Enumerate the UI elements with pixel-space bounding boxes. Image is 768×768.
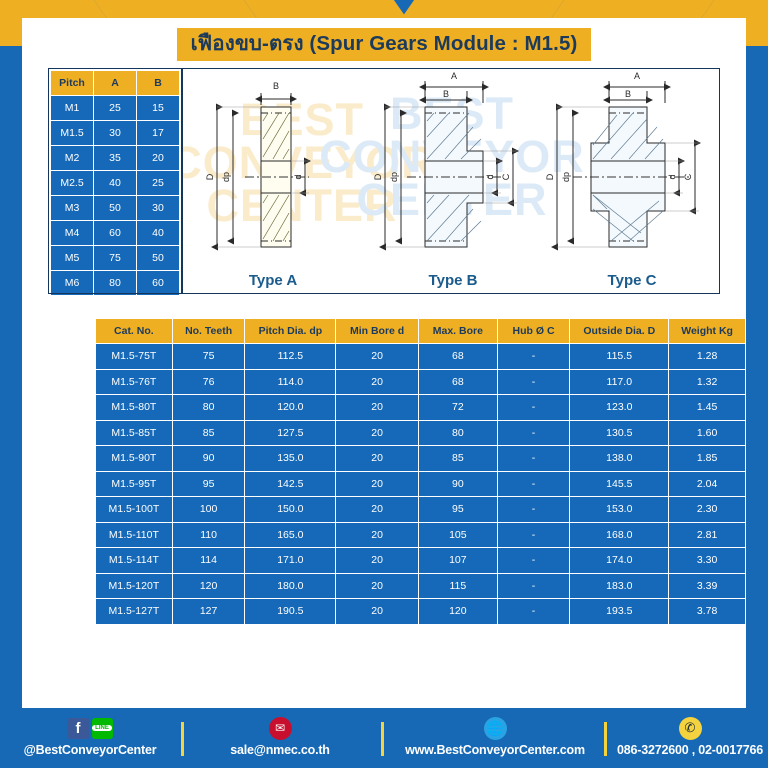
spec-cell: 123.0 xyxy=(570,395,668,420)
svg-text:A: A xyxy=(634,71,640,81)
type-b-figure: A B D dp d C xyxy=(363,69,543,269)
footer-social[interactable]: f LINE @BestConveyorCenter xyxy=(0,716,180,762)
table-row: M1.5-120T120180.020115-183.03.39 xyxy=(96,574,745,599)
spec-cell: 174.0 xyxy=(570,548,668,573)
spec-cell: 95 xyxy=(419,497,497,522)
spec-cell: - xyxy=(498,472,570,497)
footer-website[interactable]: 🌐 www.BestConveyorCenter.com xyxy=(390,716,600,762)
svg-text:D: D xyxy=(545,173,555,180)
content-page: เฟืองขบ-ตรง (Spur Gears Module : M1.5) P… xyxy=(22,18,746,708)
pitch-cell: 20 xyxy=(137,146,179,170)
pitch-cell: 30 xyxy=(94,121,136,145)
page-title: เฟืองขบ-ตรง (Spur Gears Module : M1.5) xyxy=(177,28,592,61)
spec-cell: - xyxy=(498,497,570,522)
spec-cell: 68 xyxy=(419,370,497,395)
spec-cell: M1.5-114T xyxy=(96,548,172,573)
spec-cell: 2.04 xyxy=(669,472,745,497)
pitch-table-header-row: Pitch A B xyxy=(51,71,179,95)
pitch-table-row: M68060 xyxy=(51,271,179,295)
spec-cell: - xyxy=(498,446,570,471)
svg-text:B: B xyxy=(625,89,631,99)
spec-table: Cat. No. No. Teeth Pitch Dia. dp Min Bor… xyxy=(95,318,746,625)
pitch-header-a: A xyxy=(94,71,136,95)
spec-cell: 2.81 xyxy=(669,523,745,548)
spec-header-no-teeth: No. Teeth xyxy=(173,319,245,343)
spec-cell: 90 xyxy=(173,446,245,471)
pitch-cell: 50 xyxy=(137,246,179,270)
spec-cell: 114.0 xyxy=(245,370,335,395)
spec-cell: 85 xyxy=(173,421,245,446)
phone-icon[interactable]: ✆ xyxy=(679,717,702,740)
pitch-cell: 40 xyxy=(137,221,179,245)
pitch-table-row: M46040 xyxy=(51,221,179,245)
pitch-header-b: B xyxy=(137,71,179,95)
spec-cell: 120 xyxy=(419,599,497,624)
spec-cell: 153.0 xyxy=(570,497,668,522)
table-row: M1.5-114T114171.020107-174.03.30 xyxy=(96,548,745,573)
spec-cell: 117.0 xyxy=(570,370,668,395)
footer-phone-icons: ✆ xyxy=(612,716,768,740)
spec-cell: 3.30 xyxy=(669,548,745,573)
spec-cell: 20 xyxy=(336,370,418,395)
type-c-label: Type C xyxy=(543,272,720,289)
spec-cell: 20 xyxy=(336,548,418,573)
spec-cell: 165.0 xyxy=(245,523,335,548)
spec-cell: 20 xyxy=(336,446,418,471)
spec-cell: 20 xyxy=(336,523,418,548)
spec-cell: M1.5-75T xyxy=(96,344,172,369)
spec-cell: 190.5 xyxy=(245,599,335,624)
line-icon[interactable]: LINE xyxy=(92,718,113,739)
pitch-cell: M3 xyxy=(51,196,93,220)
pitch-cell: M2 xyxy=(51,146,93,170)
svg-text:C: C xyxy=(683,173,693,180)
pitch-table-row: M35030 xyxy=(51,196,179,220)
footer-email-label: sale@nmec.co.th xyxy=(190,743,370,757)
spec-cell: 72 xyxy=(419,395,497,420)
table-row: M1.5-76T76114.02068-117.01.32 xyxy=(96,370,745,395)
spec-cell: 80 xyxy=(173,395,245,420)
pitch-table-row: M57550 xyxy=(51,246,179,270)
pitch-cell: M5 xyxy=(51,246,93,270)
drawing-type-a: B D dp d Type A xyxy=(183,69,363,294)
spec-cell: 127 xyxy=(173,599,245,624)
pitch-cell: M1 xyxy=(51,96,93,120)
pitch-table: Pitch A B M12515M1.53017M23520M2.54025M3… xyxy=(50,70,180,296)
svg-text:A: A xyxy=(451,71,457,81)
spec-cell: 2.30 xyxy=(669,497,745,522)
spec-cell: M1.5-85T xyxy=(96,421,172,446)
spec-header-max-bore: Max. Bore xyxy=(419,319,497,343)
spec-cell: 20 xyxy=(336,574,418,599)
spec-cell: 120.0 xyxy=(245,395,335,420)
spec-cell: - xyxy=(498,523,570,548)
pitch-cell: 17 xyxy=(137,121,179,145)
svg-text:dp: dp xyxy=(389,172,399,182)
table-row: M1.5-100T100150.02095-153.02.30 xyxy=(96,497,745,522)
spec-cell: - xyxy=(498,574,570,599)
spec-cell: M1.5-95T xyxy=(96,472,172,497)
spec-cell: 150.0 xyxy=(245,497,335,522)
spec-cell: 3.39 xyxy=(669,574,745,599)
pitch-cell: M4 xyxy=(51,221,93,245)
spec-cell: - xyxy=(498,344,570,369)
footer-divider xyxy=(181,722,184,756)
spec-cell: 105 xyxy=(419,523,497,548)
footer-divider xyxy=(604,722,607,756)
spec-cell: M1.5-120T xyxy=(96,574,172,599)
spec-cell: 130.5 xyxy=(570,421,668,446)
spec-cell: - xyxy=(498,421,570,446)
spec-cell: 68 xyxy=(419,344,497,369)
table-row: M1.5-127T127190.520120-193.53.78 xyxy=(96,599,745,624)
pitch-cell: 25 xyxy=(94,96,136,120)
spec-cell: M1.5-127T xyxy=(96,599,172,624)
spec-cell: 20 xyxy=(336,344,418,369)
spec-cell: 1.28 xyxy=(669,344,745,369)
spec-cell: 20 xyxy=(336,472,418,497)
table-row: M1.5-90T90135.02085-138.01.85 xyxy=(96,446,745,471)
spec-cell: 20 xyxy=(336,395,418,420)
spec-cell: 95 xyxy=(173,472,245,497)
spec-cell: 112.5 xyxy=(245,344,335,369)
svg-text:B: B xyxy=(273,81,279,91)
pitch-cell: M2.5 xyxy=(51,171,93,195)
spec-cell: 76 xyxy=(173,370,245,395)
pitch-cell: 50 xyxy=(94,196,136,220)
pitch-cell: 35 xyxy=(94,146,136,170)
type-b-label: Type B xyxy=(363,272,543,289)
spec-cell: 114 xyxy=(173,548,245,573)
type-c-figure: A B D dp d C xyxy=(543,69,720,269)
spec-header-min-bore: Min Bore d xyxy=(336,319,418,343)
svg-text:dp: dp xyxy=(221,172,231,182)
type-a-figure: B D dp d xyxy=(183,69,363,269)
svg-text:B: B xyxy=(443,89,449,99)
spec-cell: 3.78 xyxy=(669,599,745,624)
footer-phone[interactable]: ✆ 086-3272600 , 02-0017766 xyxy=(612,716,768,762)
pitch-table-row: M2.54025 xyxy=(51,171,179,195)
table-row: M1.5-95T95142.52090-145.52.04 xyxy=(96,472,745,497)
footer-phone-label: 086-3272600 , 02-0017766 xyxy=(612,743,768,757)
svg-text:D: D xyxy=(205,173,215,180)
footer-web-label: www.BestConveyorCenter.com xyxy=(390,743,600,757)
table-row: M1.5-85T85127.52080-130.51.60 xyxy=(96,421,745,446)
spec-table-header-row: Cat. No. No. Teeth Pitch Dia. dp Min Bor… xyxy=(96,319,745,343)
pitch-cell: M6 xyxy=(51,271,93,295)
svg-text:d: d xyxy=(485,174,495,179)
pitch-cell: 25 xyxy=(137,171,179,195)
spec-cell: 1.32 xyxy=(669,370,745,395)
pitch-table-row: M12515 xyxy=(51,96,179,120)
spec-cell: 145.5 xyxy=(570,472,668,497)
spec-header-hub-c: Hub Ø C xyxy=(498,319,570,343)
spec-cell: 180.0 xyxy=(245,574,335,599)
spec-cell: 1.45 xyxy=(669,395,745,420)
drawing-type-c: A B D dp d C Type C xyxy=(543,69,720,294)
spec-cell: - xyxy=(498,370,570,395)
page-title-wrap: เฟืองขบ-ตรง (Spur Gears Module : M1.5) xyxy=(22,28,746,61)
spec-cell: 100 xyxy=(173,497,245,522)
spec-cell: 142.5 xyxy=(245,472,335,497)
spec-cell: 75 xyxy=(173,344,245,369)
spec-cell: - xyxy=(498,548,570,573)
spec-cell: 85 xyxy=(419,446,497,471)
spec-header-cat-no: Cat. No. xyxy=(96,319,172,343)
spec-header-outside-dia: Outside Dia. D xyxy=(570,319,668,343)
pitch-cell: 40 xyxy=(94,171,136,195)
pitch-cell: 60 xyxy=(94,221,136,245)
svg-text:dp: dp xyxy=(561,172,571,182)
spec-cell: 1.85 xyxy=(669,446,745,471)
facebook-icon[interactable]: f xyxy=(68,718,89,739)
drawings-panel: BEST CONVEYOR CENTER BEST CONVEYOR CENTE… xyxy=(182,68,720,294)
spec-cell: 127.5 xyxy=(245,421,335,446)
table-row: M1.5-80T80120.02072-123.01.45 xyxy=(96,395,745,420)
spec-cell: M1.5-76T xyxy=(96,370,172,395)
spec-cell: 80 xyxy=(419,421,497,446)
spec-cell: 183.0 xyxy=(570,574,668,599)
svg-text:d: d xyxy=(667,174,677,179)
svg-text:C: C xyxy=(501,173,511,180)
spec-table-wrap: Cat. No. No. Teeth Pitch Dia. dp Min Bor… xyxy=(95,318,746,625)
spec-cell: M1.5-80T xyxy=(96,395,172,420)
spec-cell: 138.0 xyxy=(570,446,668,471)
table-row: M1.5-110T110165.020105-168.02.81 xyxy=(96,523,745,548)
pitch-cell: 80 xyxy=(94,271,136,295)
spec-cell: 115 xyxy=(419,574,497,599)
footer-divider xyxy=(381,722,384,756)
table-row: M1.5-75T75112.52068-115.51.28 xyxy=(96,344,745,369)
globe-icon[interactable]: 🌐 xyxy=(484,717,507,740)
drawing-type-b: A B D dp d C Type B xyxy=(363,69,543,294)
spec-cell: 120 xyxy=(173,574,245,599)
spec-cell: 193.5 xyxy=(570,599,668,624)
footer-social-label: @BestConveyorCenter xyxy=(0,743,180,757)
spec-header-pitch-dia: Pitch Dia. dp xyxy=(245,319,335,343)
spec-cell: - xyxy=(498,599,570,624)
pitch-table-row: M23520 xyxy=(51,146,179,170)
spec-header-weight: Weight Kg xyxy=(669,319,745,343)
spec-cell: 20 xyxy=(336,497,418,522)
pitch-cell: 30 xyxy=(137,196,179,220)
footer-social-icons: f LINE xyxy=(0,716,180,740)
pitch-cell: M1.5 xyxy=(51,121,93,145)
spec-cell: 20 xyxy=(336,599,418,624)
spec-cell: 107 xyxy=(419,548,497,573)
spec-cell: - xyxy=(498,395,570,420)
spec-cell: M1.5-100T xyxy=(96,497,172,522)
spec-cell: 1.60 xyxy=(669,421,745,446)
spec-cell: 171.0 xyxy=(245,548,335,573)
pitch-table-row: M1.53017 xyxy=(51,121,179,145)
pitch-cell: 60 xyxy=(137,271,179,295)
footer-contact-bar: f LINE @BestConveyorCenter ✉ sale@nmec.c… xyxy=(0,708,768,768)
pitch-cell: 15 xyxy=(137,96,179,120)
pitch-header-pitch: Pitch xyxy=(51,71,93,95)
footer-email-icons: ✉ xyxy=(190,716,370,740)
spec-cell: 110 xyxy=(173,523,245,548)
spec-cell: 135.0 xyxy=(245,446,335,471)
footer-web-icons: 🌐 xyxy=(390,716,600,740)
spec-cell: M1.5-90T xyxy=(96,446,172,471)
email-icon[interactable]: ✉ xyxy=(269,717,292,740)
spec-cell: M1.5-110T xyxy=(96,523,172,548)
spec-cell: 115.5 xyxy=(570,344,668,369)
type-a-label: Type A xyxy=(183,272,363,289)
footer-email[interactable]: ✉ sale@nmec.co.th xyxy=(190,716,370,762)
pitch-cell: 75 xyxy=(94,246,136,270)
svg-text:d: d xyxy=(293,174,303,179)
spec-cell: 20 xyxy=(336,421,418,446)
svg-text:D: D xyxy=(373,173,383,180)
spec-cell: 90 xyxy=(419,472,497,497)
spec-cell: 168.0 xyxy=(570,523,668,548)
